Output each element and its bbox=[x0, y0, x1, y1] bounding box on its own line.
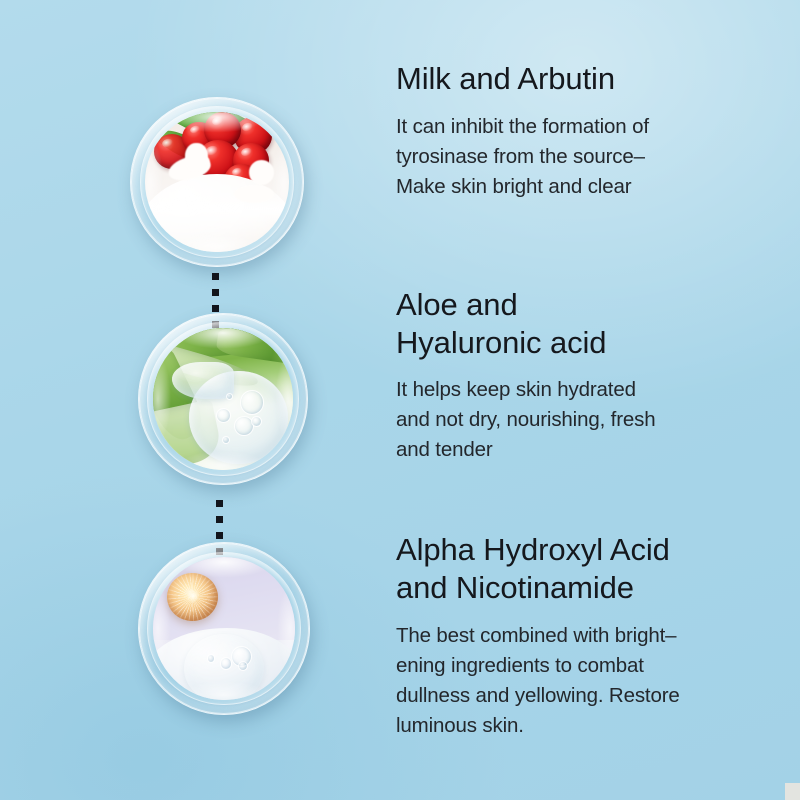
section-1-body: It can inhibit the formation of tyrosina… bbox=[396, 112, 649, 202]
dish-well bbox=[153, 328, 293, 470]
body-line: luminous skin. bbox=[396, 711, 680, 741]
section-3-body: The best combined with bright– ening ing… bbox=[396, 621, 680, 741]
section-2-text: Aloe and Hyaluronic acid It helps keep s… bbox=[396, 286, 656, 465]
body-line: Make skin bright and clear bbox=[396, 172, 649, 202]
body-line: The best combined with bright– bbox=[396, 621, 680, 651]
corner-color-swatch bbox=[785, 783, 800, 800]
connector-dot bbox=[212, 305, 219, 312]
section-2-heading: Aloe and Hyaluronic acid bbox=[396, 286, 656, 362]
capsule-core-highlight bbox=[187, 590, 199, 602]
connector-dot bbox=[216, 532, 223, 539]
hyaluronic-gel-drip bbox=[172, 362, 234, 399]
heading-line: Alpha Hydroxyl Acid bbox=[396, 531, 679, 569]
dish-rim bbox=[147, 552, 300, 706]
milk-pool bbox=[145, 174, 289, 253]
body-line: It can inhibit the formation of bbox=[396, 112, 649, 142]
milk-splash bbox=[249, 160, 275, 185]
petri-dish-capsule-cream bbox=[138, 542, 310, 715]
dish-well bbox=[153, 557, 295, 700]
body-line: dullness and yellowing. Restore bbox=[396, 681, 680, 711]
dish-well bbox=[145, 112, 289, 252]
connector-dot bbox=[212, 289, 219, 296]
petri-dish-aloe-gel bbox=[138, 313, 308, 485]
gel-bubble bbox=[240, 390, 264, 414]
petri-dish-cherries-milk bbox=[130, 97, 304, 267]
connector-dot bbox=[216, 516, 223, 523]
heading-line: Milk and Arbutin bbox=[396, 60, 624, 98]
infographic-stage: Milk and Arbutin It can inhibit the form… bbox=[0, 0, 800, 800]
heading-line: and Nicotinamide bbox=[396, 569, 643, 607]
heading-line: Aloe and bbox=[396, 286, 527, 324]
body-line: It helps keep skin hydrated bbox=[396, 375, 656, 405]
connector-dot bbox=[212, 273, 219, 280]
section-3-text: Alpha Hydroxyl Acid and Nicotinamide The… bbox=[396, 531, 680, 741]
section-1-text: Milk and Arbutin It can inhibit the form… bbox=[396, 60, 649, 202]
heading-line: Hyaluronic acid bbox=[396, 324, 615, 362]
body-line: and tender bbox=[396, 435, 656, 465]
dish-rim bbox=[140, 106, 295, 257]
body-line: ening ingredients to combat bbox=[396, 651, 680, 681]
section-2-body: It helps keep skin hydrated and not dry,… bbox=[396, 375, 656, 465]
section-1-heading: Milk and Arbutin bbox=[396, 60, 649, 98]
body-line: and not dry, nourishing, fresh bbox=[396, 405, 656, 435]
body-line: tyrosinase from the source– bbox=[396, 142, 649, 172]
connector-dot bbox=[216, 500, 223, 507]
milk-splash bbox=[234, 185, 274, 203]
dish-rim bbox=[147, 322, 298, 475]
section-3-heading: Alpha Hydroxyl Acid and Nicotinamide bbox=[396, 531, 680, 607]
